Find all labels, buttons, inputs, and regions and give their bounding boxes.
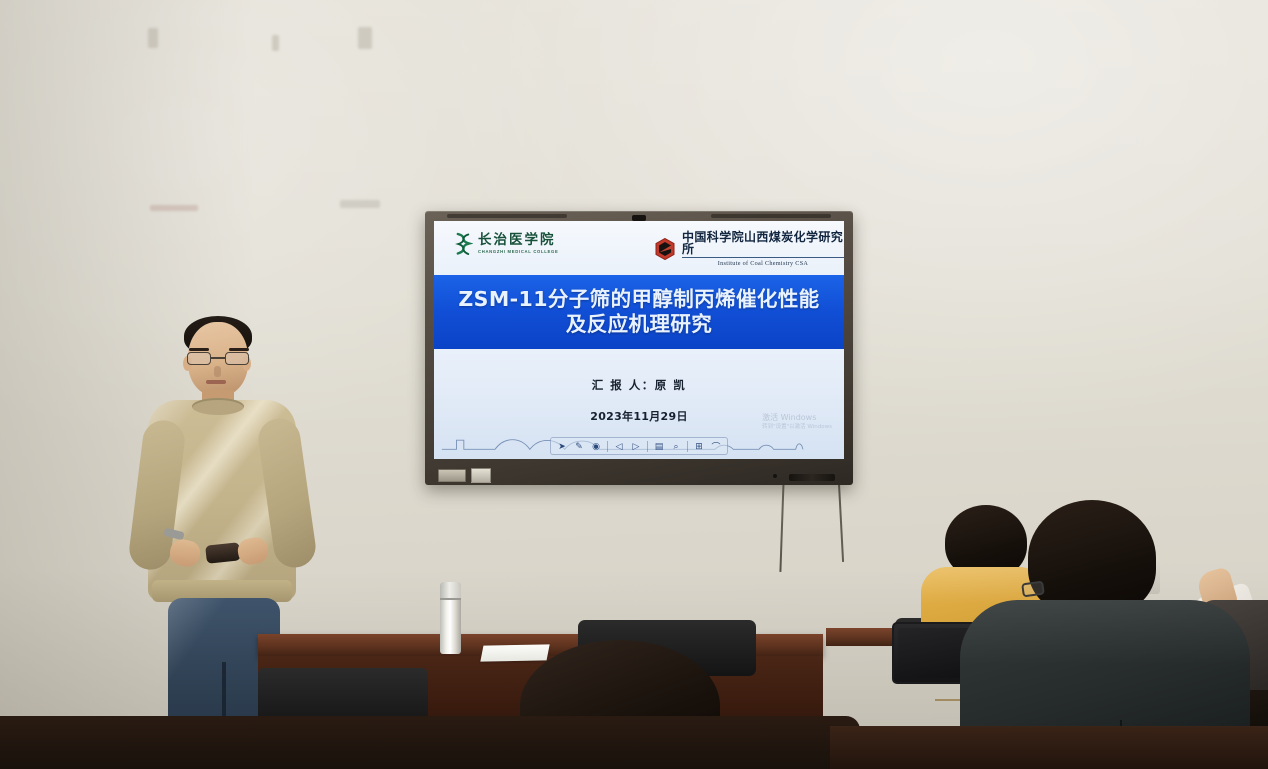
toolbar-divider	[647, 441, 648, 452]
desk-foreground	[0, 716, 860, 769]
slide-title-band: ZSM-11分子筛的甲醇制丙烯催化性能 及反应机理研究	[434, 275, 844, 349]
interactive-flat-panel-display[interactable]: 长治医学院 CHANGZHI MEDICAL COLLEGE	[425, 211, 853, 485]
logo-institute-of-coal-chemistry: 中国科学院山西煤炭化学研究所 Institute of Coal Chemist…	[654, 231, 844, 267]
wall-mark	[148, 28, 158, 48]
logo-left-text: 长治医学院 CHANGZHI MEDICAL COLLEGE	[478, 234, 558, 254]
speaker-grill	[711, 214, 831, 218]
logo-left-cn: 长治医学院	[478, 234, 558, 248]
hexagon-icon	[654, 237, 676, 261]
slide-title-line2: 及反应机理研究	[566, 312, 712, 337]
glasses-icon	[187, 352, 249, 365]
zoom-icon[interactable]: ⌕	[670, 440, 682, 452]
logo-left-en: CHANGZHI MEDICAL COLLEGE	[478, 250, 558, 254]
slide-header: 长治医学院 CHANGZHI MEDICAL COLLEGE	[434, 221, 844, 275]
glasses-lens	[187, 352, 211, 365]
glasses-lens	[225, 352, 249, 365]
pen-icon[interactable]: ✎	[573, 440, 585, 452]
logo-right-en: Institute of Coal Chemistry CSA	[682, 261, 844, 267]
previous-slide-icon[interactable]: ◁	[613, 440, 625, 452]
ink-color-icon[interactable]: ◉	[590, 440, 602, 452]
attendee-head	[1028, 500, 1156, 616]
windows-activation-watermark: 激活 Windows 转到"设置"以激活 Windows	[762, 413, 832, 431]
toolbar-divider	[687, 441, 688, 452]
wall-mark	[272, 35, 279, 51]
powerpoint-slideshow-toolbar[interactable]: ➤ ✎ ◉ ◁ ▷ ▤ ⌕ ⊞ ⌒	[550, 437, 728, 455]
thermos-cap	[440, 582, 461, 600]
slide-date: 2023年11月29日	[590, 408, 688, 424]
toolbar-divider	[607, 441, 608, 452]
slide-body: 汇 报 人：原 凯 2023年11月29日 激活 Windows 转到"设置"以…	[434, 349, 844, 459]
power-indicator-icon	[773, 474, 777, 478]
presenter-nose	[214, 366, 221, 377]
presenter-eyebrow	[189, 348, 209, 351]
speaker-grill	[447, 214, 567, 218]
display-bezel: 长治医学院 CHANGZHI MEDICAL COLLEGE	[425, 211, 853, 485]
pointer-icon[interactable]: ➤	[556, 440, 568, 452]
presenter-eyebrow	[229, 348, 249, 351]
presenter-mouth	[206, 380, 226, 384]
more-options-icon[interactable]: ⌒	[710, 440, 722, 452]
desk-foreground-right	[830, 726, 1268, 769]
all-slides-icon[interactable]: ⊞	[693, 440, 705, 452]
logo-right-cn: 中国科学院山西煤炭化学研究所	[682, 231, 844, 258]
device-sticker	[471, 468, 491, 483]
next-slide-icon[interactable]: ▷	[630, 440, 642, 452]
wall-mark	[340, 200, 380, 208]
presentation-slide: 长治医学院 CHANGZHI MEDICAL COLLEGE	[434, 221, 844, 459]
device-ports	[789, 474, 835, 481]
logo-right-text: 中国科学院山西煤炭化学研究所 Institute of Coal Chemist…	[682, 231, 844, 267]
wall-mark	[358, 27, 372, 49]
wall-mark	[150, 205, 198, 211]
sweater-collar	[192, 398, 244, 415]
glasses-bridge	[211, 357, 225, 359]
watermark-line2: 转到"设置"以激活 Windows	[762, 424, 832, 431]
slide-menu-icon[interactable]: ▤	[653, 440, 665, 452]
logo-changzhi-medical-college: 长治医学院 CHANGZHI MEDICAL COLLEGE	[454, 232, 558, 256]
device-sticker	[438, 469, 466, 482]
presentation-clicker[interactable]	[205, 542, 241, 563]
dna-helix-icon	[454, 232, 473, 256]
slide-title-line1: ZSM-11分子筛的甲醇制丙烯催化性能	[458, 287, 819, 312]
display-screen[interactable]: 长治医学院 CHANGZHI MEDICAL COLLEGE	[434, 221, 844, 459]
watermark-line1: 激活 Windows	[762, 413, 832, 424]
classroom-presentation-scene: 长治医学院 CHANGZHI MEDICAL COLLEGE	[0, 0, 1268, 769]
slide-presenter-name: 汇 报 人：原 凯	[592, 377, 687, 393]
